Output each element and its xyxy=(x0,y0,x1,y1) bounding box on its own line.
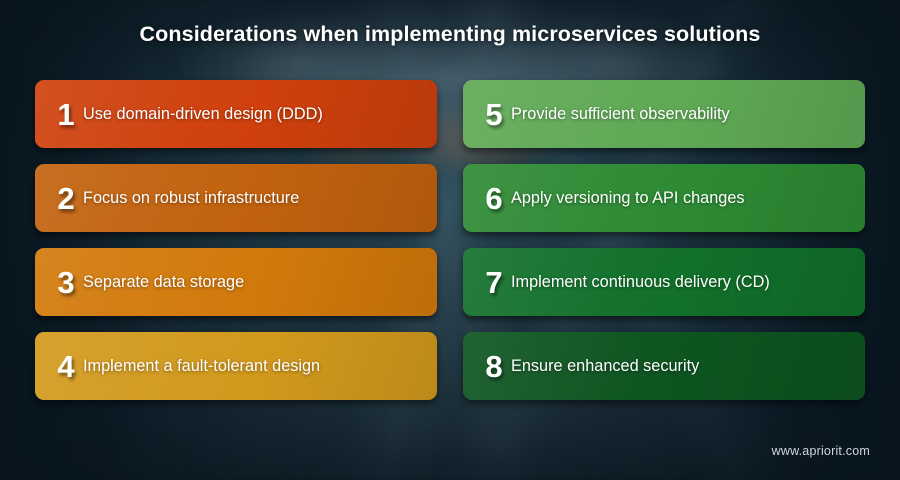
consideration-card-4[interactable]: 4Implement a fault-tolerant design xyxy=(35,332,437,400)
page-title: Considerations when implementing microse… xyxy=(0,22,900,47)
card-label: Ensure enhanced security xyxy=(511,357,713,376)
left-column: 1Use domain-driven design (DDD)2Focus on… xyxy=(35,80,437,400)
card-number: 5 xyxy=(477,99,511,130)
consideration-card-1[interactable]: 1Use domain-driven design (DDD) xyxy=(35,80,437,148)
card-number: 8 xyxy=(477,351,511,382)
right-column: 5Provide sufficient observability6Apply … xyxy=(463,80,865,400)
consideration-card-8[interactable]: 8Ensure enhanced security xyxy=(463,332,865,400)
consideration-card-5[interactable]: 5Provide sufficient observability xyxy=(463,80,865,148)
card-number: 7 xyxy=(477,267,511,298)
card-label: Use domain-driven design (DDD) xyxy=(83,105,337,124)
card-number: 3 xyxy=(49,267,83,298)
consideration-card-3[interactable]: 3Separate data storage xyxy=(35,248,437,316)
card-label: Focus on robust infrastructure xyxy=(83,189,313,208)
card-number: 6 xyxy=(477,183,511,214)
consideration-card-2[interactable]: 2Focus on robust infrastructure xyxy=(35,164,437,232)
card-number: 4 xyxy=(49,351,83,382)
consideration-card-6[interactable]: 6Apply versioning to API changes xyxy=(463,164,865,232)
card-label: Implement continuous delivery (CD) xyxy=(511,273,784,292)
card-number: 1 xyxy=(49,99,83,130)
infographic-canvas: Considerations when implementing microse… xyxy=(0,0,900,480)
footer-url: www.apriorit.com xyxy=(772,444,870,458)
consideration-card-7[interactable]: 7Implement continuous delivery (CD) xyxy=(463,248,865,316)
card-label: Provide sufficient observability xyxy=(511,105,744,124)
card-label: Implement a fault-tolerant design xyxy=(83,357,334,376)
card-number: 2 xyxy=(49,183,83,214)
card-label: Separate data storage xyxy=(83,273,258,292)
card-label: Apply versioning to API changes xyxy=(511,189,759,208)
